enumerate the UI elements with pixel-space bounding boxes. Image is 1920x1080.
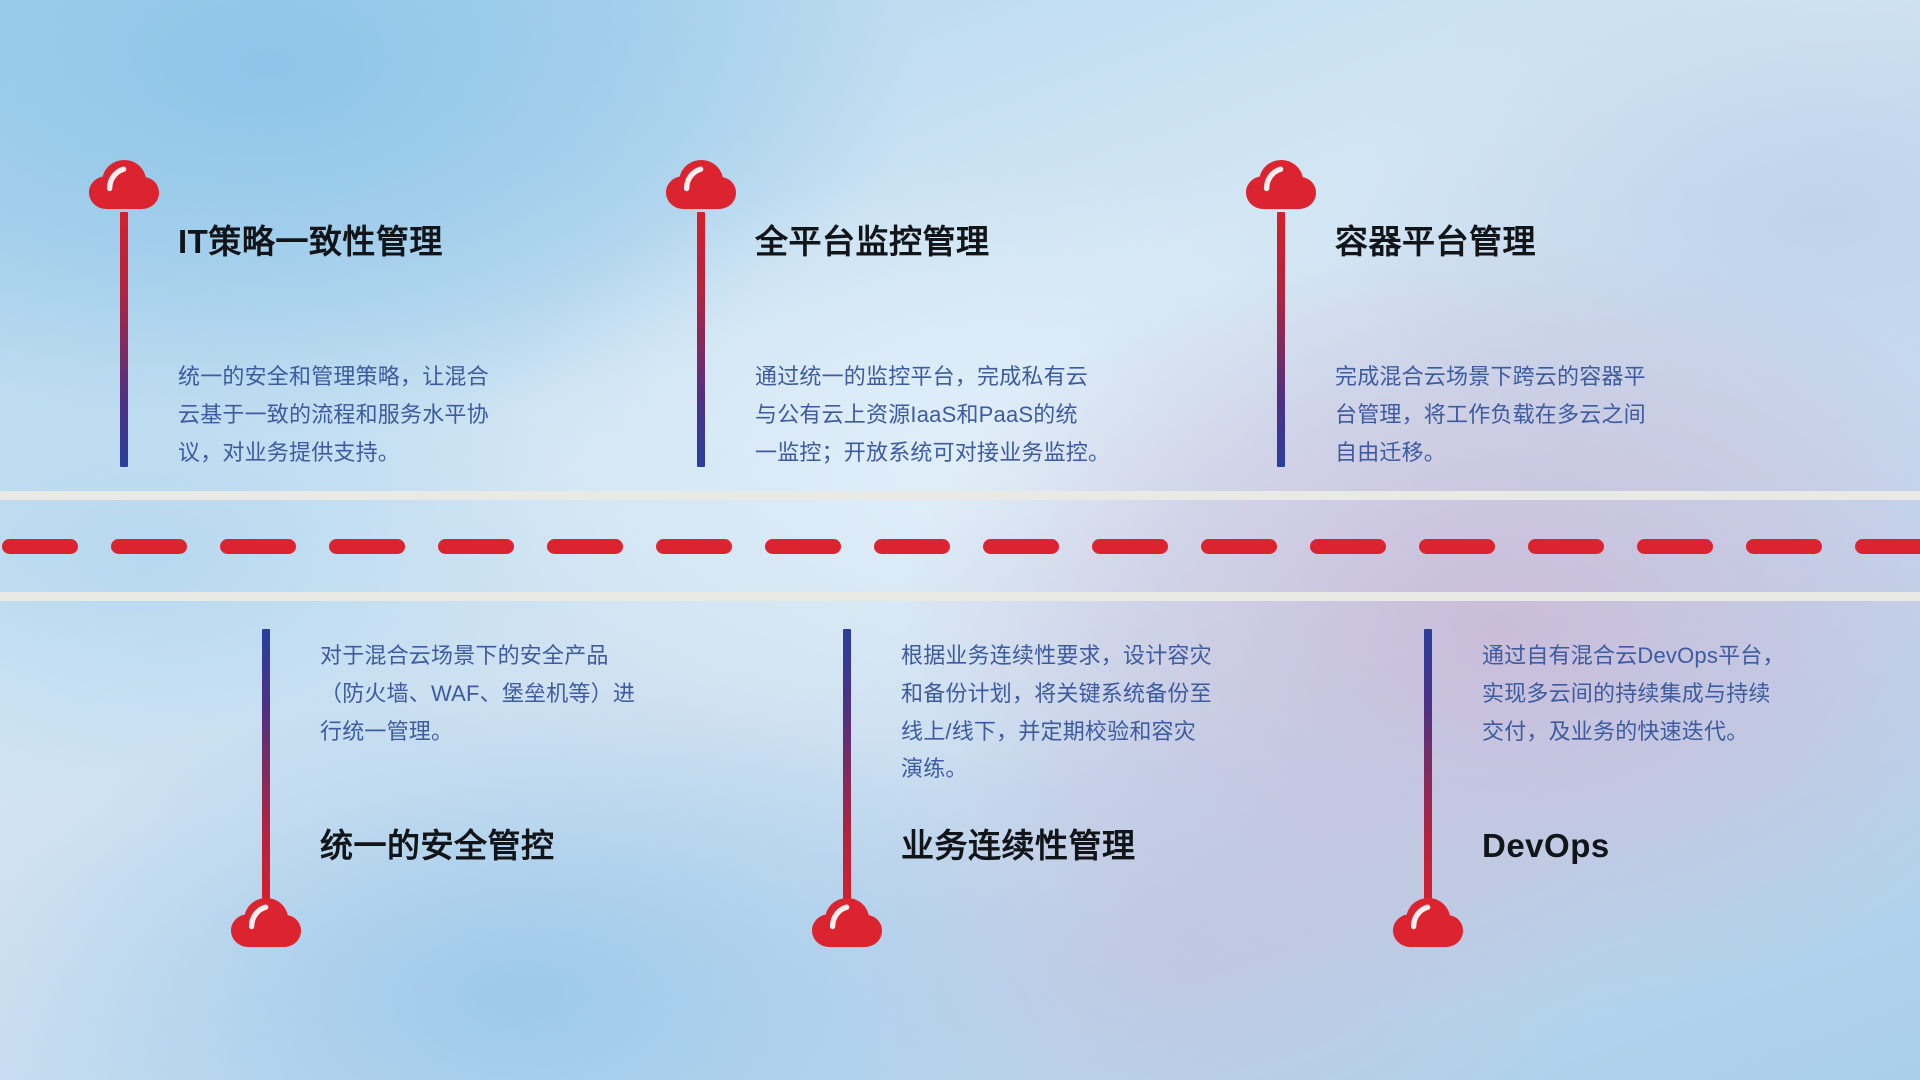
column-stem xyxy=(1424,629,1432,911)
column-body-text: 通过自有混合云DevOps平台， 实现多云间的持续集成与持续 交付，及业务的快速… xyxy=(1482,637,1785,750)
column-heading: DevOps xyxy=(1482,826,1610,866)
cloud-icon xyxy=(1393,898,1463,948)
bottom-column-devops: 通过自有混合云DevOps平台， 实现多云间的持续集成与持续 交付，及业务的快速… xyxy=(0,0,1920,1080)
infographic-canvas: IT策略一致性管理 统一的安全和管理策略，让混合 云基于一致的流程和服务水平协 … xyxy=(0,0,1920,1080)
